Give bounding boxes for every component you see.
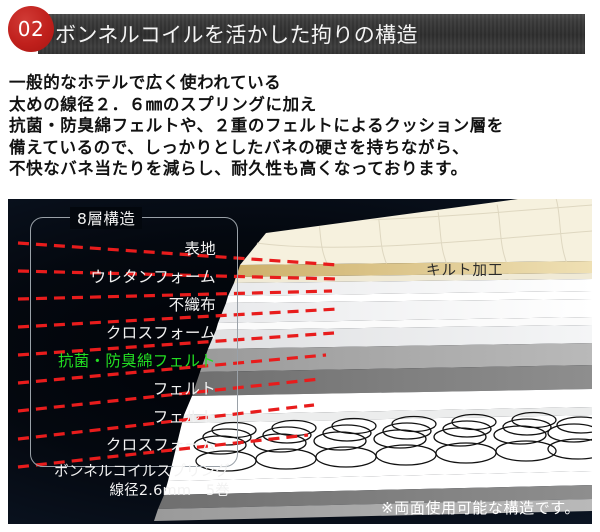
layer-label-omote: 表地 <box>8 235 226 263</box>
description-line: 太めの線径２．６㎜のスプリングに加え <box>9 94 593 116</box>
layer-label-felt1: フェルト <box>8 375 226 403</box>
description-text: 一般的なホテルで広く使われている 太めの線径２．６㎜のスプリングに加え 抗菌・防… <box>9 72 593 180</box>
layer-label-felt2: フェルト <box>8 403 226 431</box>
layer-label-crossfoam2: クロスフォーム <box>8 431 226 459</box>
step-number-badge: 02 <box>8 6 54 52</box>
description-line: 一般的なホテルで広く使われている <box>9 72 593 94</box>
layer-label-list: 表地 ウレタンフォーム 不織布 クロスフォーム 抗菌・防臭綿フェルト フェルト … <box>8 235 226 459</box>
construction-diagram-panel: キルト加工 8層構造 表地 ウレタンフォーム 不織布 クロスフォーム 抗菌・防臭… <box>8 199 592 524</box>
layer-label-fushokufu: 不織布 <box>8 291 226 319</box>
layer-label-crossfoam1: クロスフォーム <box>8 319 226 347</box>
layer-label-urethane: ウレタンフォーム <box>8 263 226 291</box>
description-line: 抗菌・防臭綿フェルトや、２重のフェルトによるクッション層を <box>9 115 593 137</box>
coil-spring-name: ボンネルコイルスプリング <box>8 463 230 482</box>
quilt-process-label: キルト加工 <box>426 259 504 280</box>
coil-spring-spec: 線径2.6mm 5巻 <box>8 482 230 501</box>
description-line: 不快なバネ当たりを減らし、耐久性も高くなっております。 <box>9 158 593 180</box>
layer-count-title: 8層構造 <box>70 207 142 229</box>
description-line: 備えているので、しっかりとしたバネの硬さを持ちながら、 <box>9 137 593 159</box>
section-header: 02 ボンネルコイルを活かした拘りの構造 <box>0 0 600 62</box>
coil-spring-note: ボンネルコイルスプリング 線径2.6mm 5巻 <box>8 463 230 501</box>
double-sided-footnote: ※両面使用可能な構造です。 <box>381 497 580 518</box>
layer-label-antibacterial-felt: 抗菌・防臭綿フェルト <box>8 347 226 375</box>
page-title: ボンネルコイルを活かした拘りの構造 <box>55 14 418 54</box>
